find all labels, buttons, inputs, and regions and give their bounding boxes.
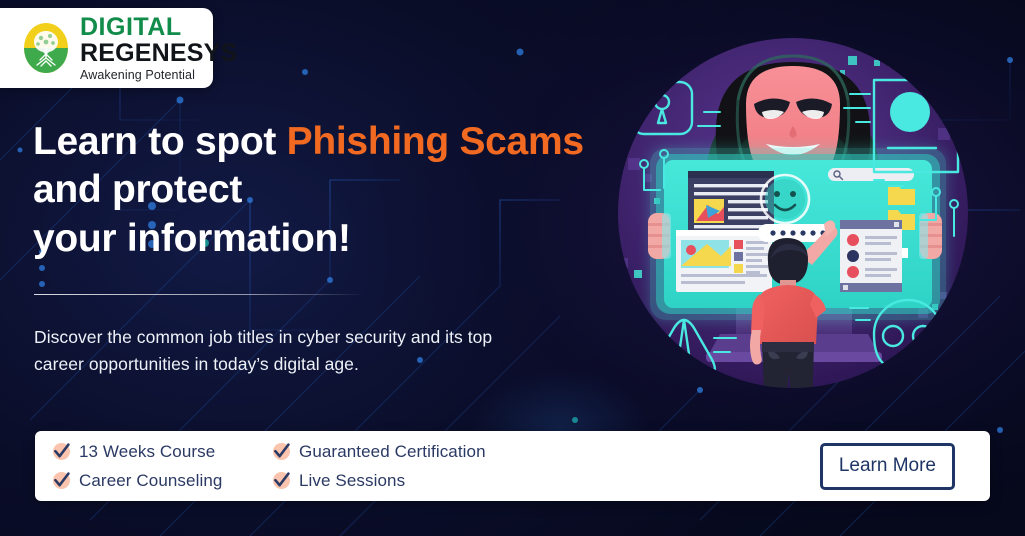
white-document-window [676, 230, 772, 292]
headline: Learn to spot Phishing Scams and protect… [33, 118, 613, 263]
feature-bar: 13 Weeks Course Guaranteed Certification [35, 431, 990, 501]
headline-line3: your information! [33, 217, 351, 260]
brand-name-line1: DIGITAL [80, 15, 237, 40]
feature-list: 13 Weeks Course Guaranteed Certification [52, 437, 820, 495]
learn-more-button[interactable]: Learn More [820, 443, 955, 490]
check-icon [272, 471, 291, 490]
tree-circle-emblem-icon [22, 21, 70, 75]
feature-label: Career Counseling [79, 471, 222, 491]
list-panel [840, 220, 908, 292]
feature-item: Career Counseling [52, 466, 272, 495]
headline-accent: Phishing Scams [287, 120, 584, 163]
headline-line2: and protect [33, 168, 242, 211]
smiley-face-icon [761, 175, 809, 223]
phishing-hacker-illustration [588, 8, 1008, 428]
promo-banner: DIGITAL REGENESYS Awakening Potential Le… [0, 0, 1025, 536]
check-icon [52, 442, 71, 461]
feature-item: 13 Weeks Course [52, 437, 272, 466]
brand-name-line2: REGENESYS [80, 41, 237, 66]
feature-label: Guaranteed Certification [299, 442, 486, 462]
brand-wordmark: DIGITAL REGENESYS Awakening Potential [80, 15, 237, 82]
brand-logo[interactable]: DIGITAL REGENESYS Awakening Potential [0, 8, 213, 88]
search-bar-icon [828, 168, 914, 181]
check-icon [272, 442, 291, 461]
subcopy: Discover the common job titles in cyber … [34, 324, 504, 377]
feature-item: Live Sessions [272, 466, 820, 495]
headline-line1-plain: Learn to spot [33, 120, 287, 163]
check-icon [52, 471, 71, 490]
feature-label: Live Sessions [299, 471, 405, 491]
feature-label: 13 Weeks Course [79, 442, 215, 462]
feature-item: Guaranteed Certification [272, 437, 820, 466]
brand-tagline: Awakening Potential [80, 69, 237, 82]
divider [34, 294, 364, 295]
